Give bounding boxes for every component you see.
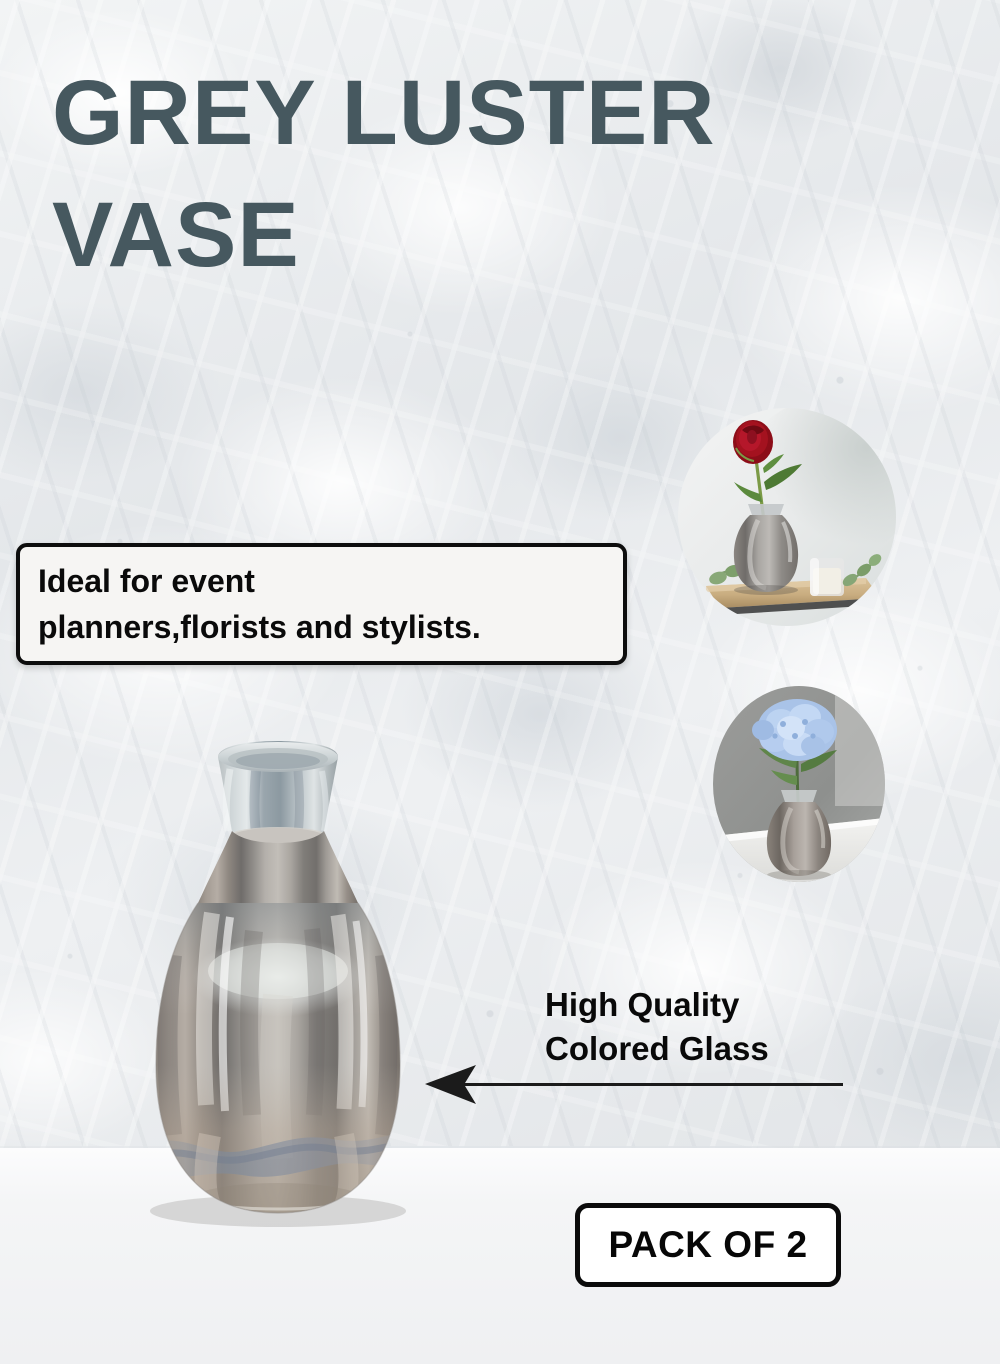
- product-poster: GREY LUSTER VASE Ideal for event planner…: [0, 0, 1000, 1364]
- rose-styling-photo: [678, 408, 896, 626]
- page-title: GREY LUSTER VASE: [52, 52, 972, 297]
- pack-quantity-label: PACK OF 2: [608, 1224, 807, 1266]
- feature-annotation-text: High Quality Colored Glass: [545, 983, 769, 1071]
- callout-box: Ideal for event planners,florists and st…: [16, 543, 627, 665]
- product-image-vase: [100, 735, 480, 1265]
- callout-text: Ideal for event planners,florists and st…: [38, 558, 481, 651]
- pack-quantity-badge: PACK OF 2: [575, 1203, 841, 1287]
- hydrangea-styling-photo: [713, 686, 885, 882]
- annotation-arrow-icon: [418, 1062, 843, 1106]
